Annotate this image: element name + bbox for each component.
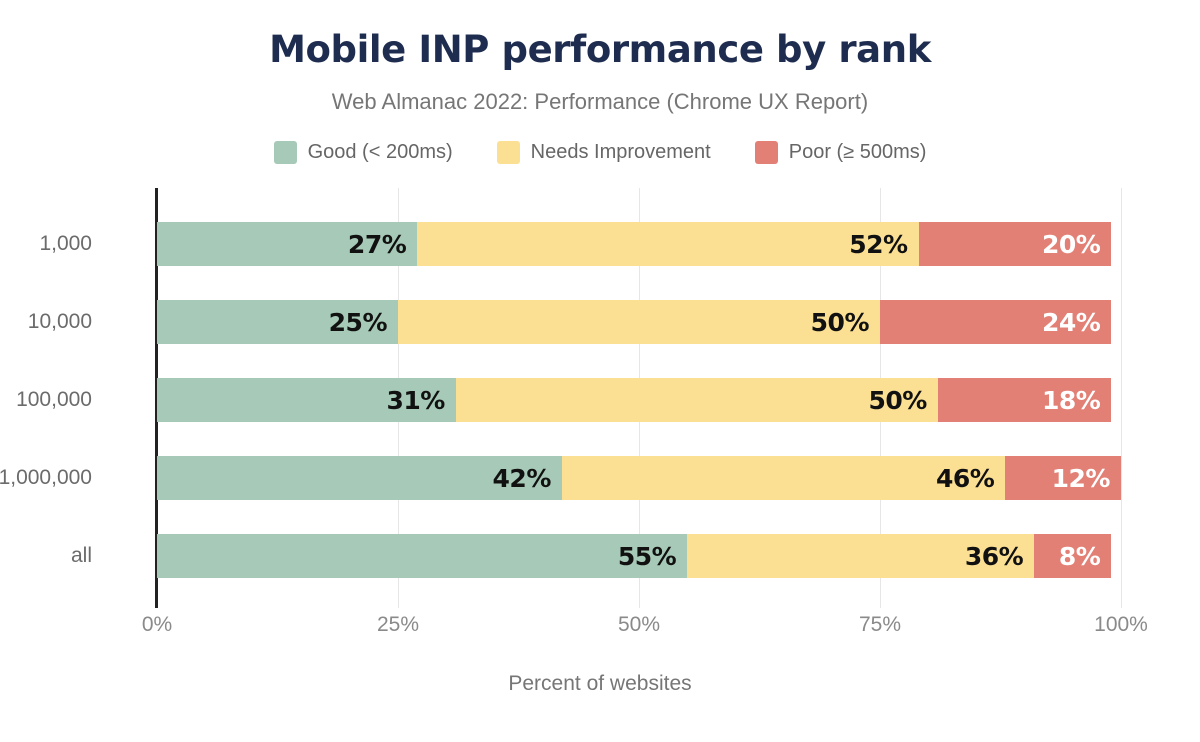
- chart-title: Mobile INP performance by rank: [0, 28, 1200, 71]
- bar-segment[interactable]: 52%: [417, 222, 918, 266]
- x-tick-label: 75%: [859, 613, 901, 637]
- stacked-bar[interactable]: 31%50%18%: [157, 378, 1111, 422]
- x-axis-title: Percent of websites: [0, 672, 1200, 696]
- legend-label-poor: Poor (≥ 500ms): [789, 141, 927, 164]
- bar-row: 100,00031%50%18%: [157, 378, 1121, 422]
- bar-segment[interactable]: 31%: [157, 378, 456, 422]
- legend-item-poor[interactable]: Poor (≥ 500ms): [755, 141, 927, 164]
- bar-segment[interactable]: 8%: [1034, 534, 1111, 578]
- bar-segment[interactable]: 18%: [938, 378, 1112, 422]
- x-tick-label: 50%: [618, 613, 660, 637]
- y-axis-label: all: [0, 544, 92, 568]
- x-tick-label: 0%: [142, 613, 172, 637]
- chart-subtitle: Web Almanac 2022: Performance (Chrome UX…: [0, 89, 1200, 115]
- bar-segment[interactable]: 55%: [157, 534, 687, 578]
- bar-segment[interactable]: 42%: [157, 456, 562, 500]
- bar-segment[interactable]: 24%: [880, 300, 1111, 344]
- bar-row: 1,000,00042%46%12%: [157, 456, 1121, 500]
- x-tick-label: 25%: [377, 613, 419, 637]
- bar-row: 1,00027%52%20%: [157, 222, 1121, 266]
- x-tick-label: 100%: [1094, 613, 1148, 637]
- bar-segment[interactable]: 12%: [1005, 456, 1121, 500]
- stacked-bar[interactable]: 27%52%20%: [157, 222, 1111, 266]
- legend-swatch-poor-icon: [755, 141, 778, 164]
- stacked-bar[interactable]: 25%50%24%: [157, 300, 1111, 344]
- stacked-bar[interactable]: 42%46%12%: [157, 456, 1121, 500]
- legend-label-good: Good (< 200ms): [308, 141, 453, 164]
- bar-segment[interactable]: 50%: [398, 300, 880, 344]
- bar-segment[interactable]: 36%: [687, 534, 1034, 578]
- legend-swatch-needs-improvement-icon: [497, 141, 520, 164]
- bar-segment[interactable]: 20%: [919, 222, 1112, 266]
- y-axis-label: 1,000,000: [0, 466, 92, 490]
- chart-legend: Good (< 200ms) Needs Improvement Poor (≥…: [0, 141, 1200, 164]
- legend-item-needs-improvement[interactable]: Needs Improvement: [497, 141, 711, 164]
- bar-segment[interactable]: 50%: [456, 378, 938, 422]
- y-axis-label: 10,000: [0, 310, 92, 334]
- bar-segment[interactable]: 25%: [157, 300, 398, 344]
- bar-segment[interactable]: 46%: [562, 456, 1005, 500]
- chart-container: Mobile INP performance by rank Web Alman…: [0, 0, 1200, 742]
- y-axis-label: 100,000: [0, 388, 92, 412]
- legend-swatch-good-icon: [274, 141, 297, 164]
- stacked-bar[interactable]: 55%36%8%: [157, 534, 1111, 578]
- plot-area: 1,00027%52%20%10,00025%50%24%100,00031%5…: [157, 188, 1121, 608]
- legend-label-needs-improvement: Needs Improvement: [531, 141, 711, 164]
- bar-row: 10,00025%50%24%: [157, 300, 1121, 344]
- y-axis-label: 1,000: [0, 232, 92, 256]
- gridline-100: [1121, 188, 1122, 608]
- bar-row: all55%36%8%: [157, 534, 1121, 578]
- bar-segment[interactable]: 27%: [157, 222, 417, 266]
- legend-item-good[interactable]: Good (< 200ms): [274, 141, 453, 164]
